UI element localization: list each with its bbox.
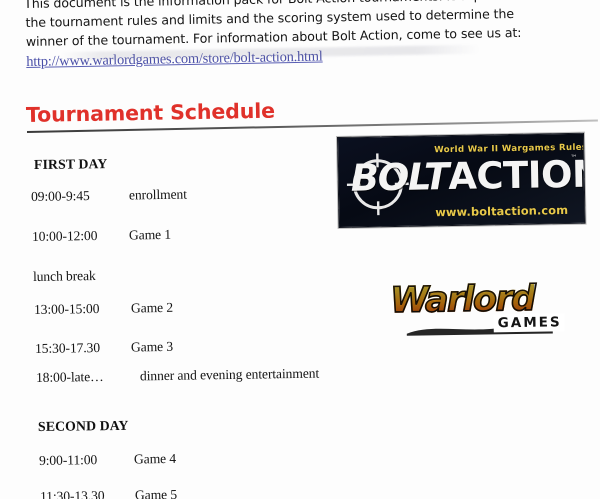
schedule-time-7: 9:00-11:00 [39, 452, 134, 469]
schedule-row-1: 09:00-9:45enrollment [31, 187, 187, 205]
schedule-row-6: 18:00-late…dinner and evening entertainm… [36, 366, 319, 386]
schedule-desc-5: Game 3 [131, 339, 173, 356]
schedule-time-1: 09:00-9:45 [31, 187, 129, 205]
bolt-logo-wordmark: BOLTACTION [350, 155, 585, 197]
bolt-action-logo: World War II Wargames Rules BOLTACTION ™… [337, 133, 586, 228]
schedule-row-7: 9:00-11:00Game 4 [39, 451, 176, 469]
page-title: Tournament Schedule [26, 99, 275, 127]
schedule-time-2: 10:00-12:00 [32, 227, 129, 245]
schedule-row-3: lunch break [33, 268, 96, 285]
schedule-day-label-second: SECOND DAY [38, 418, 129, 435]
intro-paragraph: This document is the information pack fo… [24, 0, 585, 71]
bolt-logo-url: www.boltaction.com [435, 203, 568, 219]
schedule-row-2: 10:00-12:00Game 1 [32, 227, 171, 245]
trademark-symbol: ™ [570, 154, 577, 162]
schedule-row-8: 11:30-13.30Game 5 [40, 487, 177, 499]
schedule-time-6: 18:00-late… [36, 368, 140, 386]
schedule-desc-6: dinner and evening entertainment [140, 366, 319, 385]
schedule-day-label-first: FIRST DAY [34, 156, 108, 173]
schedule-time-3: lunch break [33, 268, 96, 285]
schedule-time-8: 11:30-13.30 [40, 488, 135, 499]
schedule-time-5: 15:30-17.30 [35, 339, 131, 357]
schedule-row-4: 13:00-15:00Game 2 [34, 300, 173, 318]
warlord-logo-subtitle: GAMES [494, 313, 565, 332]
schedule-desc-8: Game 5 [135, 487, 177, 499]
schedule-row-5: 15:30-17.30Game 3 [35, 339, 173, 357]
warlord-games-logo: Warlord GAMES [390, 280, 563, 335]
schedule-desc-7: Game 4 [134, 451, 176, 468]
schedule-desc-4: Game 2 [131, 300, 173, 317]
schedule-desc-1: enrollment [129, 187, 187, 204]
bolt-logo-word-bolt: BOLT [350, 155, 448, 200]
bolt-logo-word-action: ACTION [448, 152, 586, 198]
schedule-desc-2: Game 1 [129, 227, 171, 244]
schedule-time-4: 13:00-15:00 [34, 300, 131, 318]
scanned-document-page: This document is the information pack fo… [0, 0, 600, 499]
